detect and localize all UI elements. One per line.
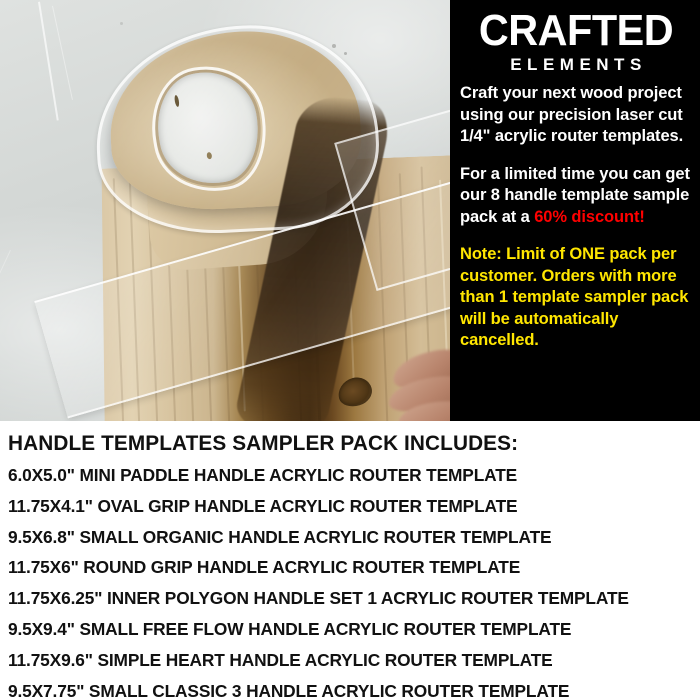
discount-highlight: 60% discount!	[534, 208, 645, 226]
finger	[397, 398, 450, 421]
list-item: 11.75X4.1" OVAL GRIP HANDLE ACRYLIC ROUT…	[8, 491, 684, 522]
list-item: 9.5X7.75" SMALL CLASSIC 3 HANDLE ACRYLIC…	[8, 676, 684, 700]
surface-scratch	[52, 6, 73, 100]
workbench-surface	[0, 0, 450, 421]
hand	[388, 344, 450, 421]
list-item: 9.5X6.8" SMALL ORGANIC HANDLE ACRYLIC RO…	[8, 522, 684, 553]
product-advertisement-page: CRAFTED ELEMENTS Craft your next wood pr…	[0, 0, 700, 700]
surface-scratch	[38, 2, 58, 121]
surface-speck	[332, 44, 336, 48]
includes-list: 6.0X5.0" MINI PADDLE HANDLE ACRYLIC ROUT…	[8, 460, 694, 700]
list-item: 11.75X6.25" INNER POLYGON HANDLE SET 1 A…	[8, 583, 684, 614]
surface-speck	[344, 52, 347, 55]
acrylic-router-template-outline	[91, 19, 383, 239]
acrylic-template-hole-outline	[142, 57, 276, 201]
brand-logo-primary: CRAFTED	[465, 8, 687, 54]
includes-list-heading: HANDLE TEMPLATES SAMPLER PACK INCLUDES:	[8, 431, 687, 457]
list-item: 6.0X5.0" MINI PADDLE HANDLE ACRYLIC ROUT…	[8, 460, 684, 491]
board-paddle-head	[106, 26, 365, 215]
top-section: CRAFTED ELEMENTS Craft your next wood pr…	[0, 0, 700, 421]
finger	[386, 371, 450, 417]
board-slab	[94, 155, 450, 421]
surface-scratch	[0, 250, 11, 305]
wood-cutting-board	[52, 26, 450, 421]
includes-list-section: HANDLE TEMPLATES SAMPLER PACK INCLUDES: …	[0, 423, 700, 700]
promo-intro-text: Craft your next wood project using our p…	[460, 83, 694, 148]
list-item: 11.75X9.6" SIMPLE HEART HANDLE ACRYLIC R…	[8, 645, 684, 676]
promo-copy: Craft your next wood project using our p…	[458, 83, 694, 352]
promo-note-text: Note: Limit of ONE pack per customer. Or…	[460, 244, 694, 352]
acrylic-template-plate	[334, 95, 450, 291]
wood-knot	[335, 374, 375, 410]
brand-logo-secondary: ELEMENTS	[463, 55, 694, 74]
bark-inclusion	[232, 94, 395, 421]
acrylic-template-strip	[34, 172, 450, 419]
surface-scratch	[225, 300, 301, 328]
list-item: 9.5X9.4" SMALL FREE FLOW HANDLE ACRYLIC …	[8, 614, 684, 645]
board-neck	[144, 140, 332, 272]
promo-panel: CRAFTED ELEMENTS Craft your next wood pr…	[450, 0, 700, 421]
surface-speck	[120, 22, 123, 25]
finger	[389, 343, 450, 395]
product-photo	[0, 0, 450, 421]
hanging-hole	[149, 64, 267, 192]
promo-offer-text: For a limited time you can get our 8 han…	[460, 164, 694, 229]
list-item: 11.75X6" ROUND GRIP HANDLE ACRYLIC ROUTE…	[8, 552, 684, 583]
